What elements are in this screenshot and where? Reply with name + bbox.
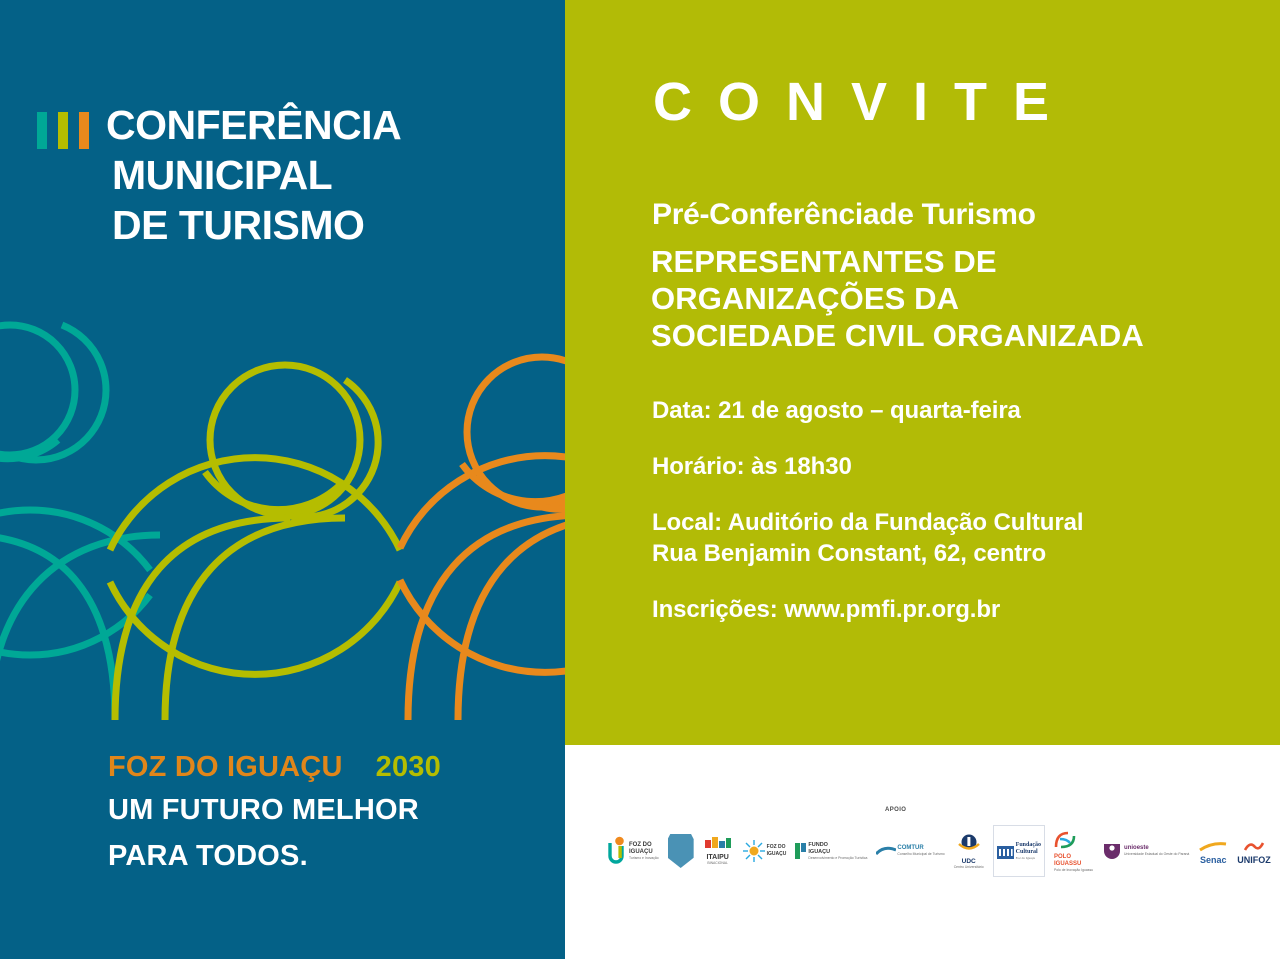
pre-conference-subheading: Pré-Conferênciade Turismo: [652, 195, 1036, 235]
comtur-logo-text: COMTUR Conselho Municipal de Turismo: [897, 845, 944, 856]
polo-iguassu-logo: POLO IGUASSU Polo de Inovação Iguassu: [1054, 828, 1093, 874]
unioeste-logo-text: unioeste Universidade Estadual do Oeste …: [1124, 845, 1189, 856]
orange-bar-icon: [79, 112, 89, 149]
event-details-list: Data: 21 de agosto – quarta-feira Horári…: [652, 395, 1262, 650]
building-icon: [997, 843, 1014, 860]
itaipu-mark-icon: [703, 836, 733, 849]
prefeitura-crest-logo: [668, 828, 694, 874]
detail-registration[interactable]: Inscrições: www.pmfi.pr.org.br: [652, 594, 1262, 625]
unioeste-logo: unioeste Universidade Estadual do Oeste …: [1102, 828, 1189, 874]
left-blue-panel: CONFERÊNCIA MUNICIPAL DE TURISMO FOZ DO …: [0, 0, 565, 959]
destino-logo-text: FOZ DO IGUAÇU: [767, 844, 787, 858]
crest-icon: [668, 834, 694, 868]
comtur-mark-icon: [876, 845, 896, 857]
senac-logo-text: Senac: [1198, 857, 1228, 864]
udc-logo-text: UDC Centro Universitário: [954, 858, 984, 869]
sponsor-logos-row: FOZ DO IGUAÇU Turismo e Inovação: [605, 823, 1245, 879]
sponsor-logo-strip: APOIO FOZ DO IGUAÇU Turismo e Inovação: [565, 745, 1280, 959]
polo-logo-text: POLO IGUASSU Polo de Inovação Iguassu: [1054, 854, 1093, 872]
people-circles-pattern: [0, 300, 565, 720]
sunburst-icon: [742, 839, 766, 863]
itaipu-logo: ITAIPU BINACIONAL: [703, 828, 733, 874]
unioeste-mark-icon: [1102, 842, 1122, 860]
title-line-2: MUNICIPAL: [112, 150, 537, 200]
tagline-line-1: FOZ DO IGUAÇU 2030: [108, 747, 548, 787]
detail-location: Local: Auditório da Fundação Cultural Ru…: [652, 507, 1262, 569]
unifoz-logo-text: UNIFOZ: [1237, 857, 1271, 864]
audience-heading-line-2: ORGANIZAÇÕES DA: [651, 280, 1144, 317]
conference-title-block: CONFERÊNCIA MUNICIPAL DE TURISMO: [37, 100, 537, 250]
foz-logo-text: FOZ DO IGUAÇU Turismo e Inovação: [629, 842, 659, 860]
polo-swirl-icon: [1054, 830, 1076, 849]
tagline-year: 2030: [376, 751, 441, 783]
udc-mark-icon: [958, 833, 980, 853]
convite-heading: CONVITE: [653, 73, 1075, 131]
itaipu-logo-text: ITAIPU BINACIONAL: [703, 854, 733, 865]
fundo-mark-icon: [795, 843, 806, 859]
udc-logo: UDC Centro Universitário: [954, 828, 984, 874]
fozdoiguacu-destino-logo: FOZ DO IGUAÇU: [742, 828, 787, 874]
audience-heading-line-1: REPRESENTANTES DE: [651, 243, 1144, 280]
foz-mark-icon: [605, 836, 627, 866]
audience-heading: REPRESENTANTES DE ORGANIZAÇÕES DA SOCIED…: [651, 243, 1144, 354]
tagline-city: FOZ DO IGUAÇU: [108, 751, 343, 783]
lime-bar-icon: [58, 112, 68, 149]
audience-heading-line-3: SOCIEDADE CIVIL ORGANIZADA: [651, 317, 1144, 354]
title-line-1: CONFERÊNCIA: [106, 100, 401, 150]
fundo-logo-text: FUNDO IGUAÇU Desenvolvimento e Promoção …: [808, 842, 867, 860]
tagline-line-2: UM FUTURO MELHOR: [108, 787, 548, 833]
detail-time: Horário: às 18h30: [652, 451, 1262, 482]
tricolor-bars-icon: [37, 112, 89, 149]
fundo-iguacu-logo: FUNDO IGUAÇU Desenvolvimento e Promoção …: [795, 828, 867, 874]
foz-do-iguacu-logo: FOZ DO IGUAÇU Turismo e Inovação: [605, 828, 659, 874]
tagline-block: FOZ DO IGUAÇU 2030 UM FUTURO MELHOR PARA…: [108, 747, 548, 879]
senac-swoosh-icon: [1198, 842, 1228, 852]
fundacao-logo-text: Fundação Cultural Foz do Iguaçu: [1016, 842, 1041, 860]
detail-date: Data: 21 de agosto – quarta-feira: [652, 395, 1262, 426]
title-line-3: DE TURISMO: [112, 200, 537, 250]
unifoz-mark-icon: [1243, 841, 1265, 852]
fundacao-cultural-logo: Fundação Cultural Foz do Iguaçu: [993, 825, 1045, 877]
comtur-logo: COMTUR Conselho Municipal de Turismo: [876, 828, 944, 874]
senac-logo: Senac: [1198, 828, 1228, 874]
tagline-line-3: PARA TODOS.: [108, 833, 548, 879]
invitation-poster: CONFERÊNCIA MUNICIPAL DE TURISMO FOZ DO …: [0, 0, 1280, 959]
right-green-panel: CONVITE Pré-Conferênciade Turismo REPRES…: [565, 0, 1280, 745]
apoio-label: APOIO: [885, 807, 906, 813]
unifoz-logo: UNIFOZ: [1237, 828, 1271, 874]
teal-bar-icon: [37, 112, 47, 149]
